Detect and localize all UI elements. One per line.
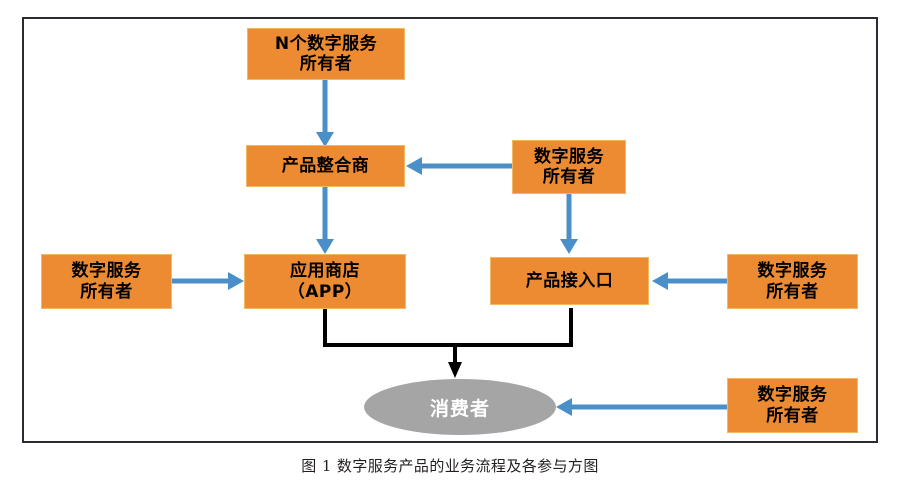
node-app-store-line1: 应用商店 [290, 261, 360, 281]
node-owner-left[interactable]: 数字服务 所有者 [41, 254, 172, 309]
node-owner-right-bottom-line2: 所有者 [766, 406, 819, 426]
node-owner-left-line1: 数字服务 [72, 261, 142, 281]
node-owners-n-line1: N个数字服务 [275, 34, 377, 54]
node-access-point-label: 产品接入口 [526, 271, 614, 291]
node-owners-n-line2: 所有者 [300, 54, 353, 74]
node-consumer-label: 消费者 [430, 394, 490, 421]
node-owner-right-mid[interactable]: 数字服务 所有者 [512, 140, 626, 194]
node-app-store[interactable]: 应用商店 （APP） [244, 254, 406, 309]
node-access-point[interactable]: 产品接入口 [490, 257, 649, 305]
node-owner-right-bottom-line1: 数字服务 [758, 385, 828, 405]
figure-caption: 图 1 数字服务产品的业务流程及各参与方图 [0, 455, 900, 476]
figure-root: N个数字服务 所有者 产品整合商 数字服务 所有者 数字服务 所有者 应用商店 … [0, 0, 900, 488]
node-owner-right-mid-line1: 数字服务 [534, 147, 604, 167]
node-integrator[interactable]: 产品整合商 [246, 145, 405, 187]
node-app-store-line2: （APP） [288, 282, 363, 302]
node-owner-right-mid-line2: 所有者 [543, 167, 596, 187]
node-owners-n[interactable]: N个数字服务 所有者 [247, 28, 405, 80]
node-owner-right-lower[interactable]: 数字服务 所有者 [727, 254, 858, 309]
node-owner-right-lower-line2: 所有者 [766, 282, 819, 302]
node-owner-right-bottom[interactable]: 数字服务 所有者 [727, 378, 858, 433]
node-integrator-label: 产品整合商 [282, 156, 370, 176]
node-consumer[interactable]: 消费者 [364, 379, 556, 435]
node-owner-left-line2: 所有者 [80, 282, 133, 302]
node-owner-right-lower-line1: 数字服务 [758, 261, 828, 281]
